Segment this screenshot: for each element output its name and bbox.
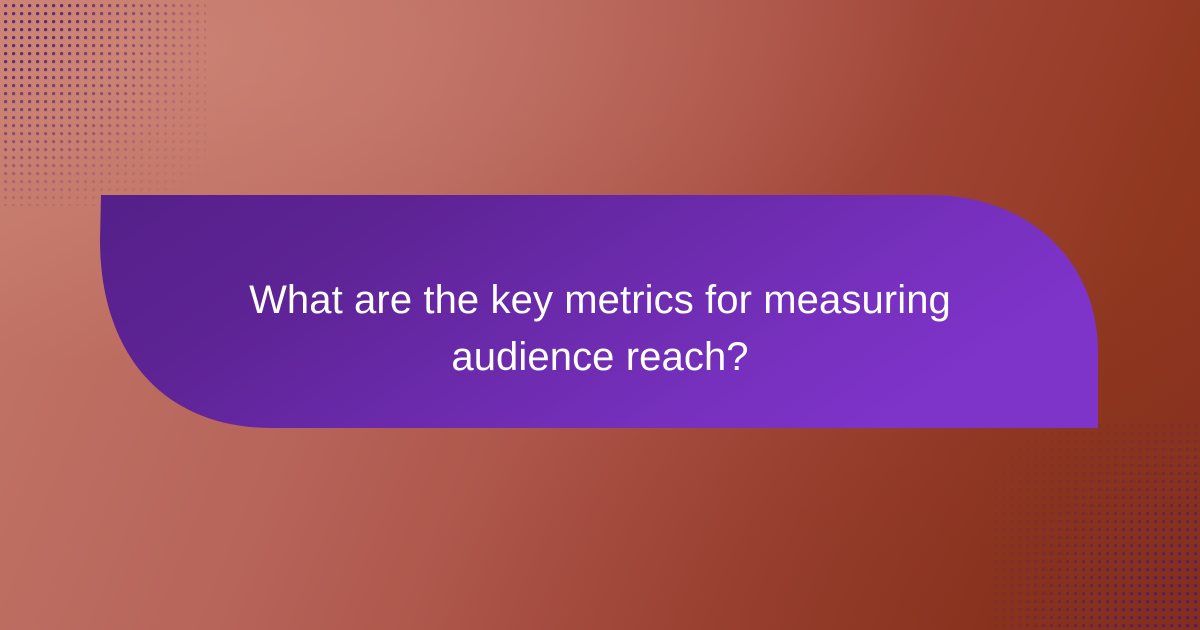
question-text: What are the key metrics for measuring a… <box>150 272 1050 386</box>
question-card-canvas: What are the key metrics for measuring a… <box>0 0 1200 630</box>
